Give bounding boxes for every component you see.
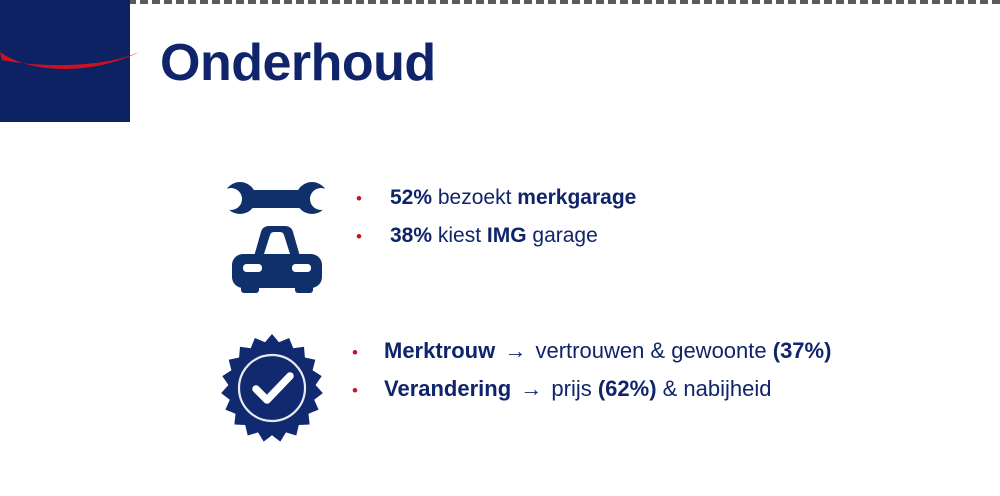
bullet-text-run: kiest — [432, 224, 487, 247]
slide-selection-rule — [128, 0, 1000, 4]
bullet-text-run: 38% — [390, 224, 432, 247]
bullet-text-run: prijs — [551, 376, 597, 401]
badge-check-icon — [216, 332, 328, 444]
content-group-loyalty: • Merktrouw → vertrouwen & gewoonte (37%… — [216, 332, 976, 452]
list-item: • 52% bezoekt merkgarage — [356, 186, 636, 224]
bullet-marker-icon: • — [356, 190, 390, 207]
bullet-text: 38% kiest IMG garage — [390, 224, 598, 248]
bullet-text: Merktrouw → vertrouwen & gewoonte (37%) — [384, 338, 831, 364]
logo-red-swoosh-icon — [0, 46, 145, 80]
bullet-text-run: garage — [527, 224, 598, 247]
page-title: Onderhoud — [160, 32, 436, 94]
bullet-text-run: IMG — [487, 224, 527, 247]
list-item: • Verandering → prijs (62%) & nabijheid — [352, 376, 831, 414]
slide-canvas: Onderhoud — [0, 0, 1000, 496]
list-item: • 38% kiest IMG garage — [356, 224, 636, 262]
bullet-text: 52% bezoekt merkgarage — [390, 186, 636, 210]
bullet-text-run: bezoekt — [432, 186, 517, 209]
brand-logo — [0, 0, 145, 124]
bullet-list-garage: • 52% bezoekt merkgarage • 38% kiest IMG… — [356, 186, 636, 262]
bullet-text-run: vertrouwen & gewoonte — [535, 338, 772, 363]
bullet-text-run: merkgarage — [517, 186, 636, 209]
list-item: • Merktrouw → vertrouwen & gewoonte (37%… — [352, 338, 831, 376]
arrow-icon: → — [495, 338, 535, 363]
bullet-text-run: (62%) — [598, 376, 657, 401]
content-group-garage: • 52% bezoekt merkgarage • 38% kiest IMG… — [222, 168, 922, 298]
bullet-marker-icon: • — [352, 382, 384, 399]
bullet-marker-icon: • — [356, 228, 390, 245]
arrow-icon: → — [511, 376, 551, 401]
bullet-text: Verandering → prijs (62%) & nabijheid — [384, 376, 772, 402]
bullet-list-loyalty: • Merktrouw → vertrouwen & gewoonte (37%… — [352, 338, 831, 414]
bullet-text-run: Verandering — [384, 376, 511, 401]
car-wrench-icon — [222, 168, 330, 293]
bullet-text-run: Merktrouw — [384, 338, 495, 363]
rosette-shape — [221, 334, 323, 442]
bullet-marker-icon: • — [352, 344, 384, 361]
bullet-text-run: 52% — [390, 186, 432, 209]
bullet-text-run: & nabijheid — [657, 376, 772, 401]
bullet-text-run: (37%) — [773, 338, 832, 363]
